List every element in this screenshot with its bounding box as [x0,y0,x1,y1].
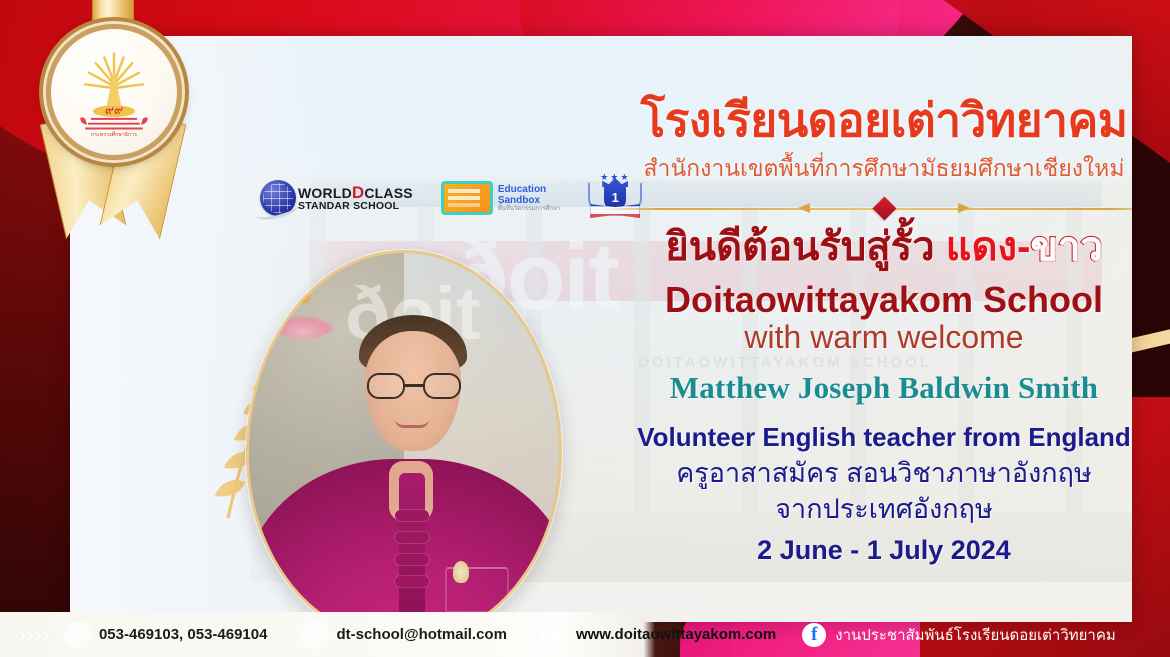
divider-arrow-left-icon [798,203,810,213]
shirt-knot [395,576,429,587]
facebook-page-name: งานประชาสัมพันธ์โรงเรียนดอยเต่าวิทยาคม [835,623,1116,647]
shirt-knot [395,510,429,521]
role-thai-line2: จากประเทศอังกฤษ [578,491,1132,527]
website-text: www.doitaowittayakom.com [576,626,776,643]
logo-wcs-accent: D [352,183,364,202]
date-range: 2 June - 1 July 2024 [578,535,1132,566]
role-english: Volunteer English teacher from England [578,420,1132,455]
medal-disc: ๙๙ กระทรวงศึกษาธิการ [46,24,182,160]
svg-text:กระทรวงศึกษาธิการ: กระทรวงศึกษาธิการ [91,131,137,138]
logo-sandbox-sub: พื้นที่นวัตกรรมการศึกษา [498,206,560,213]
ministry-emblem-icon: ๙๙ กระทรวงศึกษาธิการ [51,29,177,155]
contact-footer: ›››› 053-469103, 053-469104 dt-school@ho… [0,612,1170,657]
welcome-red-word: แดง [946,225,1017,269]
email-text: dt-school@hotmail.com [336,626,506,643]
globe-icon [260,180,296,216]
divider-arrow-right-icon [958,203,970,213]
person-name: Matthew Joseph Baldwin Smith [578,370,1132,406]
phone-icon [66,623,90,647]
glasses-icon [367,373,461,399]
portrait-thai-decor [261,275,345,339]
divider-line [602,208,1132,210]
shirt-knot [395,532,429,543]
role-thai-line1: ครูอาสาสมัคร สอนวิชาภาษาอังกฤษ [578,455,1132,491]
text-column: โรงเรียนดอยเต่าวิทยาคม สำนักงานเขตพื้นที… [578,96,1132,566]
welcome-line-thai: ยินดีต้อนรับสู่รั้ว แดง-ขาว [578,225,1132,269]
divider-diamond-icon [872,196,896,220]
school-name-thai: โรงเรียนดอยเต่าวิทยาคม [578,96,1132,145]
envelope-icon [303,623,327,647]
logo-sandbox-line1: Education [498,184,546,195]
logo-sandbox-text: Education Sandbox พื้นที่นวัตกรรมการศึกษ… [498,184,560,213]
footer-phone[interactable]: 053-469103, 053-469104 [66,623,268,647]
shirt-placket [399,473,425,622]
lapel-pin-icon [453,561,469,583]
logo-sandbox-line2: Sandbox [498,195,540,206]
area-office-thai: สำนักงานเขตพื้นที่การศึกษามัธยมศึกษาเชีย… [578,151,1132,187]
svg-text:๙๙: ๙๙ [105,103,123,117]
welcome-dash: - [1017,225,1030,269]
teacher-portrait-photo: ðoit [246,250,562,622]
footer-email[interactable]: dt-school@hotmail.com [303,623,506,647]
poster-canvas: ðoit DOITAOWITTAYAKOM SCHOOL ðoit [0,0,1170,657]
welcome-prefix: ยินดีต้อนรับสู่รั้ว [665,225,945,269]
globe-icon [543,623,567,647]
chevron-arrows-icon: ›››› [18,621,50,649]
logo-education-sandbox: Education Sandbox พื้นที่นวัตกรรมการศึกษ… [441,181,560,215]
phone-text: 053-469103, 053-469104 [99,626,268,643]
sandbox-card-icon [441,181,493,215]
logo-wcs-line3: STANDAR [298,200,350,212]
royal-medal-ribbon: ๙๙ กระทรวงศึกษาธิการ [16,0,206,226]
welcome-white-word: ขาว [1030,225,1102,269]
logo-wcs-line4: SCHOOL [353,200,399,212]
ornament-divider [578,199,1132,219]
logo-world-class-standard-school: WORLDDCLASS STANDAR SCHOOL [260,180,413,216]
facebook-icon: f [802,623,826,647]
logo-wcs-line2: CLASS [364,185,412,201]
role-block: Volunteer English teacher from England ค… [578,420,1132,527]
portrait-smile [395,419,429,428]
school-name-english: Doitaowittayakom School [578,279,1132,321]
shirt-knot [395,554,429,565]
logo-wcs-text: WORLDDCLASS STANDAR SCHOOL [298,184,413,213]
footer-facebook[interactable]: f งานประชาสัมพันธ์โรงเรียนดอยเต่าวิทยาคม [802,623,1116,647]
content-card: ðoit DOITAOWITTAYAKOM SCHOOL ðoit [70,36,1132,622]
logo-wcs-line1: WORLD [298,185,352,201]
footer-website[interactable]: www.doitaowittayakom.com [543,623,776,647]
warm-welcome-line: with warm welcome [578,319,1132,356]
